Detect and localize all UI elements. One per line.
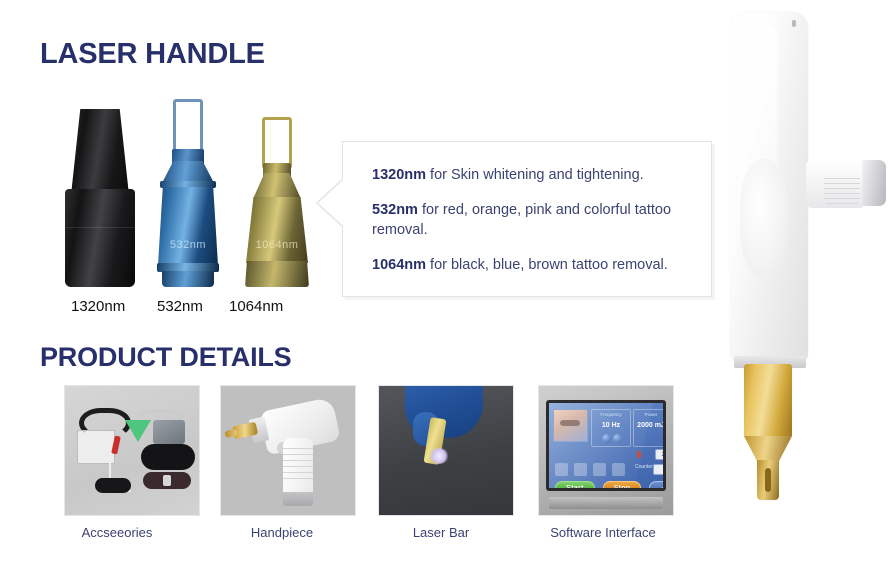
start-button[interactable]: Start [555, 481, 595, 488]
handpiece-gold-tip-neck [744, 364, 792, 438]
foot-pedal [153, 420, 185, 444]
back-button[interactable]: ↩ [649, 481, 663, 488]
goggles-case [141, 444, 195, 470]
callout-wavelength-532nm: 532nm [372, 202, 418, 218]
laser-tip-1320nm [65, 109, 135, 287]
tip-handle-loop [262, 117, 292, 169]
handpiece-grip-ribs [283, 448, 313, 482]
thermometer-icon [637, 451, 641, 458]
mode-probe-icon[interactable] [612, 463, 625, 476]
callout-line-1320nm: 1320nm for Skin whitening and tightening… [372, 166, 694, 185]
protective-glasses [143, 472, 191, 489]
caption-accessories: Accseeories [32, 525, 202, 540]
power-label: Power [634, 412, 663, 417]
laser-tips-photo: 532nm 1064nm [57, 95, 319, 287]
handpiece-port-ribs [824, 178, 860, 206]
green-cone-accessory [125, 420, 151, 442]
counter-value: 0 [653, 464, 663, 475]
tip-label-1064nm: 1064nm [229, 298, 283, 315]
caption-software-interface: Software Interface [518, 525, 688, 540]
counter-readout: Counter 0 [635, 464, 663, 475]
safety-goggles [95, 478, 131, 493]
tip-body [246, 197, 308, 263]
tip-body [65, 189, 135, 287]
tip-base [162, 271, 214, 287]
handpiece-indicator-dot [792, 20, 796, 27]
callout-text-1320nm: for Skin whitening and tightening. [426, 167, 644, 183]
power-panel[interactable]: Power 2000 mJ [633, 409, 663, 447]
handpiece-gold-tip-taper [744, 436, 792, 462]
thumbnail-handpiece[interactable] [220, 385, 356, 516]
thumbnail-accessories[interactable] [64, 385, 200, 516]
tip-shoulder [162, 161, 214, 183]
laser-tip-532nm: 532nm [154, 99, 222, 287]
touchscreen-ui: Frequency 10 Hz Power 2000 mJ 27 C [549, 403, 663, 488]
tip-label-1320nm: 1320nm [71, 298, 125, 315]
monitor-frame: Frequency 10 Hz Power 2000 mJ 27 C [546, 400, 666, 491]
laser-handpiece-photo [718, 8, 892, 498]
laser-rod-glow [429, 448, 449, 464]
frequency-adjust-arrows[interactable] [602, 434, 622, 443]
temperature-value: 27 C [655, 449, 663, 460]
thumbnail-software-interface[interactable]: Frequency 10 Hz Power 2000 mJ 27 C [538, 385, 674, 516]
tip-ring-upper [160, 181, 216, 188]
tip-seam [65, 227, 135, 228]
mode-handpiece-icon[interactable] [593, 463, 606, 476]
handpiece-grip-dimple [740, 158, 788, 278]
frequency-panel[interactable]: Frequency 10 Hz [591, 409, 631, 447]
tip-engraving-532nm: 532nm [154, 239, 222, 251]
tip-label-532nm: 532nm [157, 298, 203, 315]
frequency-value: 10 Hz [592, 422, 630, 429]
power-value: 2000 mJ [634, 422, 663, 429]
tip-body [158, 187, 218, 265]
stop-button[interactable]: Stop [603, 481, 641, 488]
caption-handpiece: Handpiece [197, 525, 367, 540]
tip-shoulder [253, 173, 301, 199]
callout-line-532nm: 532nm for red, orange, pink and colorful… [372, 201, 694, 240]
counter-label: Counter [635, 464, 653, 470]
monitor-stand [549, 497, 663, 509]
mode-carbon-peel-icon[interactable] [555, 463, 568, 476]
handpiece-gold-tip-slot [765, 468, 771, 492]
tip-base [245, 261, 309, 287]
wavelength-callout-box: 1320nm for Skin whitening and tightening… [342, 141, 712, 297]
control-button-row: Start Stop ↩ [555, 481, 663, 488]
handpiece-base [283, 492, 313, 506]
caption-laser-bar: Laser Bar [356, 525, 526, 540]
callout-wavelength-1064nm: 1064nm [372, 257, 426, 273]
frequency-decrease-icon[interactable] [602, 434, 611, 443]
callout-tail-fill [318, 180, 343, 226]
laser-handle-heading: LASER HANDLE [40, 38, 265, 71]
product-details-heading: PRODUCT DETAILS [40, 342, 292, 373]
laser-tip-1064nm: 1064nm [243, 117, 311, 287]
mode-lamp-icon[interactable] [574, 463, 587, 476]
handpiece-port-cap [862, 160, 886, 206]
frequency-increase-icon[interactable] [613, 434, 622, 443]
mode-icon-row[interactable] [555, 463, 633, 477]
callout-wavelength-1320nm: 1320nm [372, 167, 426, 183]
patient-face-image [553, 409, 588, 442]
callout-line-1064nm: 1064nm for black, blue, brown tattoo rem… [372, 256, 694, 275]
temperature-readout: 27 C [635, 449, 663, 460]
tip-engraving-1064nm: 1064nm [243, 239, 311, 251]
tip-barrel [71, 109, 129, 195]
thumbnail-laser-bar[interactable] [378, 385, 514, 516]
frequency-label: Frequency [592, 412, 630, 417]
callout-text-1064nm: for black, blue, brown tattoo removal. [426, 257, 668, 273]
